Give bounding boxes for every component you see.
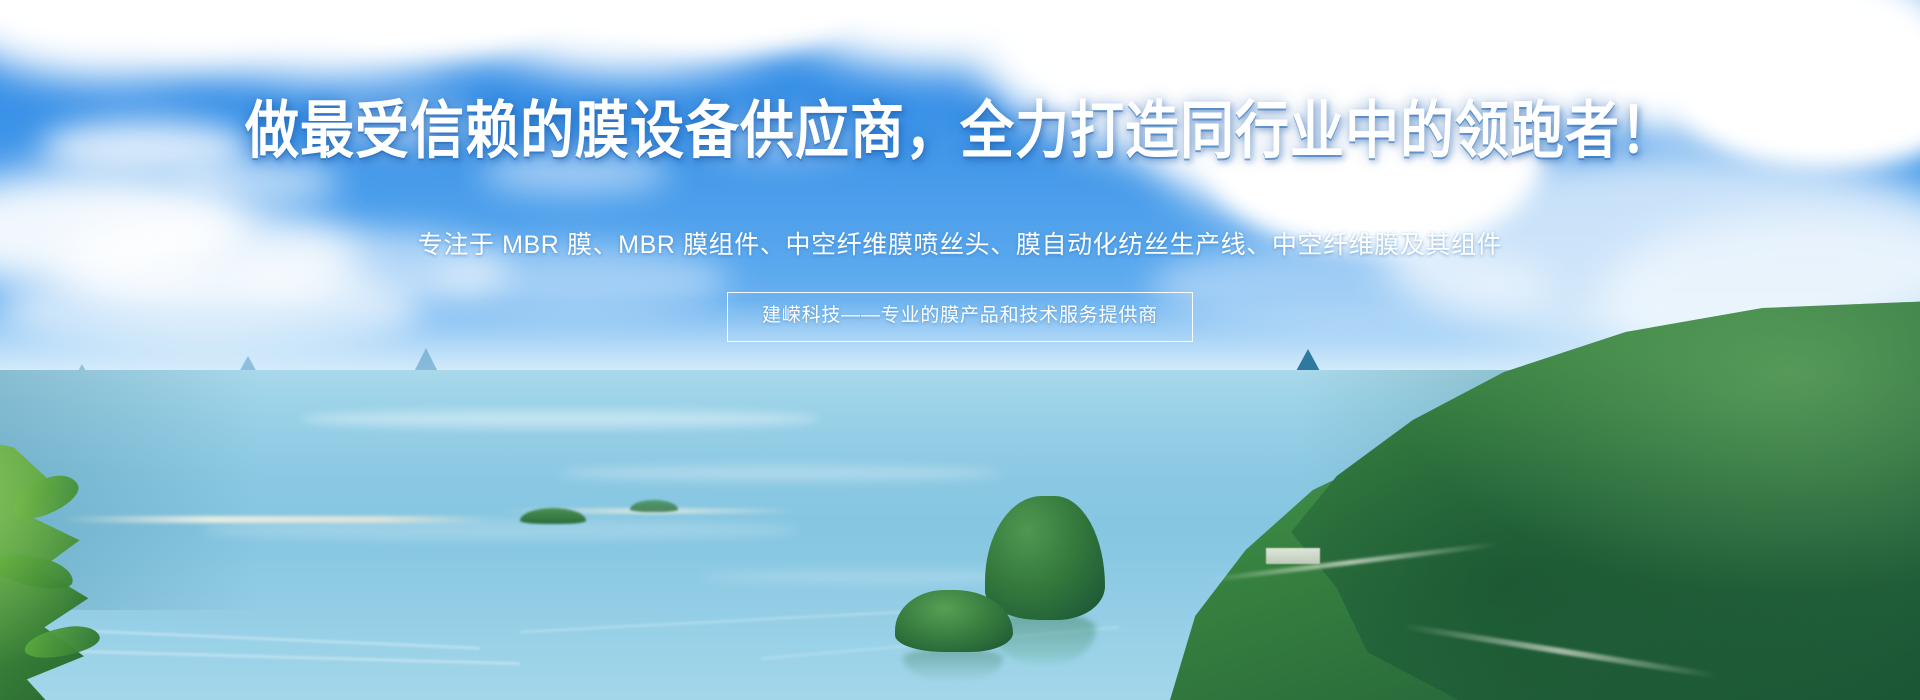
water-glint [200,520,800,540]
page-subtitle: 专注于 MBR 膜、MBR 膜组件、中空纤维膜喷丝头、膜自动化纺丝生产线、中空纤… [0,228,1920,262]
boat-wake [60,629,480,649]
tagline-box: 建嵘科技——专业的膜产品和技术服务提供商 [727,292,1193,342]
water-glint [300,410,820,428]
tagline-container: 建嵘科技——专业的膜产品和技术服务提供商 [0,292,1920,342]
boat-wake [520,609,940,633]
water-glint [560,465,1000,481]
hero-banner: 做最受信赖的膜设备供应商，全力打造同行业中的领跑者！ 专注于 MBR 膜、MBR… [0,0,1920,700]
village-buildings [1266,548,1320,564]
islet [630,500,678,512]
boat-wake [40,649,520,664]
page-title: 做最受信赖的膜设备供应商，全力打造同行业中的领跑者！ [0,95,1920,167]
shoreline-strip [60,516,490,523]
